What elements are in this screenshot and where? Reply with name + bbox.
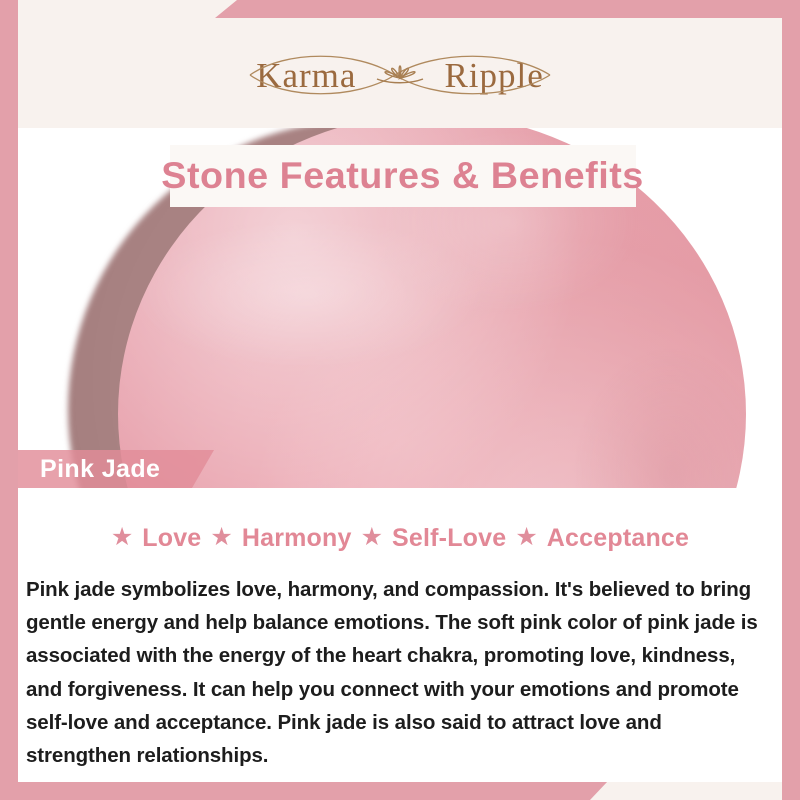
description-section: ★ Love ★ Harmony ★ Self-Love ★ Acceptanc… [18,488,782,782]
star-icon: ★ [515,525,537,550]
page-title-box: Stone Features & Benefits [170,145,636,207]
keyword-self-love: Self-Love [392,524,506,553]
stone-description: Pink jade symbolizes love, harmony, and … [26,573,770,772]
infographic-page: Karma Ripple [0,0,800,800]
frame-right-accent [782,0,800,800]
keyword-love: Love [142,524,201,553]
stone-photo: Stone Features & Benefits [18,128,782,488]
keyword-harmony: Harmony [242,524,352,553]
page-inner: Karma Ripple [18,18,782,782]
frame-left-accent [0,0,18,800]
page-title: Stone Features & Benefits [162,155,645,197]
keyword-list: ★ Love ★ Harmony ★ Self-Love ★ Acceptanc… [18,488,782,553]
brand-logo: Karma Ripple [18,48,782,102]
brand-name-second: Ripple [444,58,543,93]
star-icon: ★ [210,525,232,550]
brand-name-first: Karma [256,58,356,93]
star-icon: ★ [111,525,133,550]
keyword-acceptance: Acceptance [547,524,689,553]
stone-name-label: Pink Jade [40,455,160,484]
lotus-flower-icon [360,48,440,102]
stone-name-banner: Pink Jade [18,450,214,488]
frame-bottom-accent [0,781,608,800]
frame-top-accent [215,0,800,18]
star-icon: ★ [361,525,383,550]
